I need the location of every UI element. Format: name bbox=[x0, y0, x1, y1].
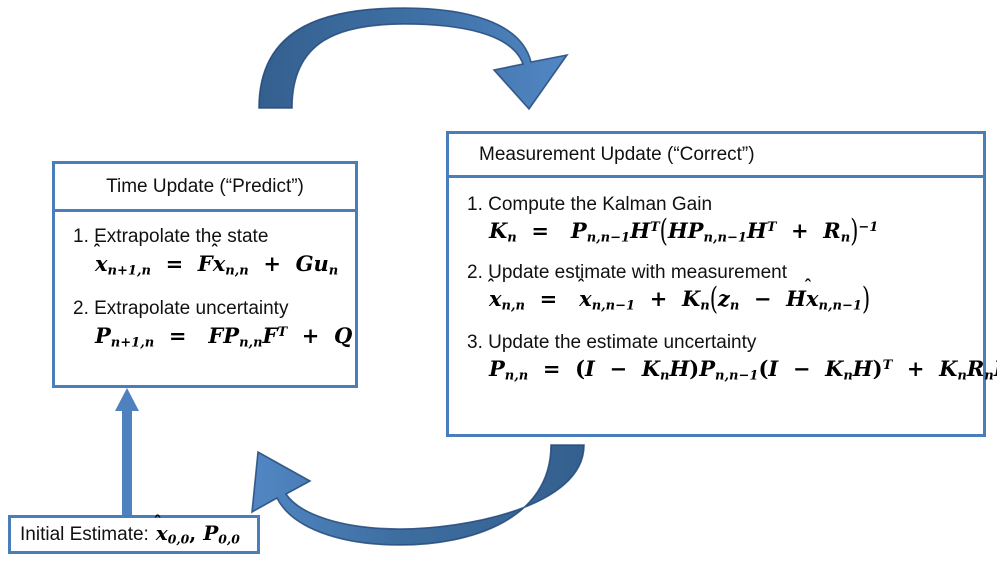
correct-to-predict-arrow bbox=[252, 445, 584, 545]
time-update-box: Time Update (“Predict”) 1. Extrapolate t… bbox=[52, 161, 358, 388]
kalman-filter-diagram: Time Update (“Predict”) 1. Extrapolate t… bbox=[0, 0, 997, 567]
time-update-body: 1. Extrapolate the state x̂n+1,n = Fx̂n,… bbox=[55, 212, 355, 385]
measurement-update-equation-3: Pn,n = (I − KnH)Pn,n−1(I − KnH)T + KnRnK… bbox=[489, 357, 983, 385]
initial-estimate-label: Initial Estimate: bbox=[20, 524, 149, 546]
time-update-equation-2: Pn+1,n = FPn,nFT + Q bbox=[95, 324, 355, 352]
predict-to-correct-arrow bbox=[259, 8, 567, 109]
time-update-step-1-label: 1. Extrapolate the state bbox=[73, 226, 355, 248]
time-update-equation-1: x̂n+1,n = Fx̂n,n + Gun bbox=[95, 252, 355, 280]
initial-estimate-arrow bbox=[115, 388, 139, 515]
measurement-update-equation-2: x̂n,n = x̂n,n−1 + Kn(zn − Hx̂n,n−1) bbox=[489, 287, 983, 315]
measurement-update-step-3-label: 3. Update the estimate uncertainty bbox=[467, 332, 983, 354]
measurement-update-box: Measurement Update (“Correct”) 1. Comput… bbox=[446, 131, 986, 437]
time-update-step-2-label: 2. Extrapolate uncertainty bbox=[73, 298, 355, 320]
initial-estimate-equation: x̂0,0, P0,0 bbox=[149, 522, 240, 547]
initial-estimate-box: Initial Estimate: x̂0,0, P0,0 bbox=[8, 515, 260, 554]
time-update-header: Time Update (“Predict”) bbox=[55, 164, 355, 212]
measurement-update-step-1-label: 1. Compute the Kalman Gain bbox=[467, 194, 983, 216]
measurement-update-body: 1. Compute the Kalman Gain Kn = Pn,n−1HT… bbox=[449, 178, 983, 434]
measurement-update-equation-1: Kn = Pn,n−1HT(HPn,n−1HT + Rn)−1 bbox=[489, 219, 983, 247]
measurement-update-header: Measurement Update (“Correct”) bbox=[449, 134, 983, 178]
measurement-update-step-2-label: 2. Update estimate with measurement bbox=[467, 262, 983, 284]
